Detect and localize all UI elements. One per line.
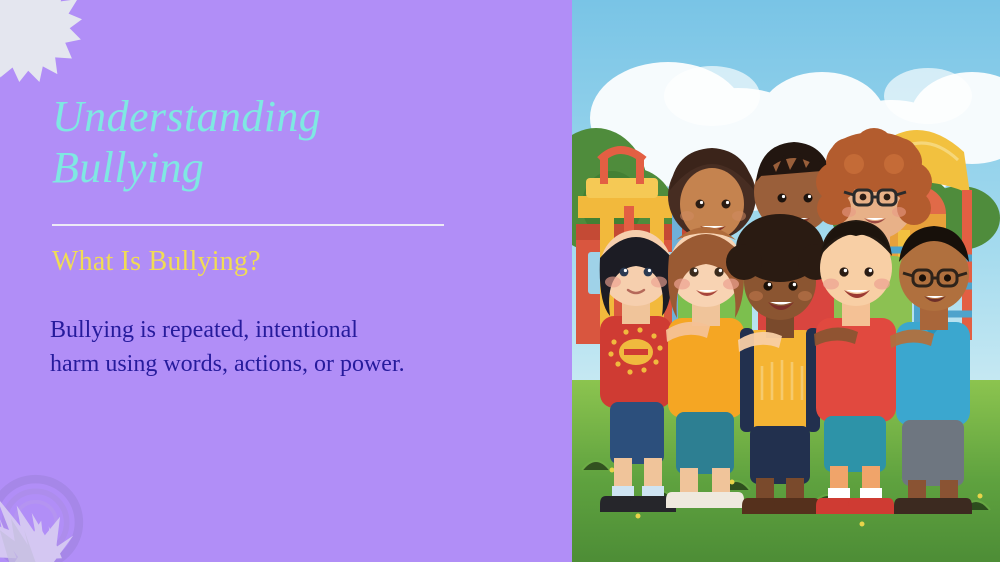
body-line-2: harm using words, actions, or power. bbox=[50, 347, 530, 381]
lotus-logo-icon bbox=[0, 464, 94, 562]
body-paragraph: Bullying is repeated, intentional harm u… bbox=[50, 313, 530, 381]
title-line-2: Bullying bbox=[52, 143, 204, 192]
image-edge-strip bbox=[563, 0, 572, 562]
title-divider bbox=[52, 224, 444, 226]
slide-canvas: Understanding Bullying What Is Bullying?… bbox=[0, 0, 1000, 562]
body-line-1: Bullying is repeated, intentional bbox=[50, 313, 530, 347]
page-title: Understanding Bullying bbox=[52, 91, 472, 193]
left-content-panel: Understanding Bullying What Is Bullying?… bbox=[0, 0, 572, 562]
starburst-icon bbox=[0, 0, 82, 82]
illustration-image bbox=[572, 0, 1000, 562]
title-line-1: Understanding bbox=[52, 92, 321, 141]
section-subtitle: What Is Bullying? bbox=[52, 246, 261, 278]
